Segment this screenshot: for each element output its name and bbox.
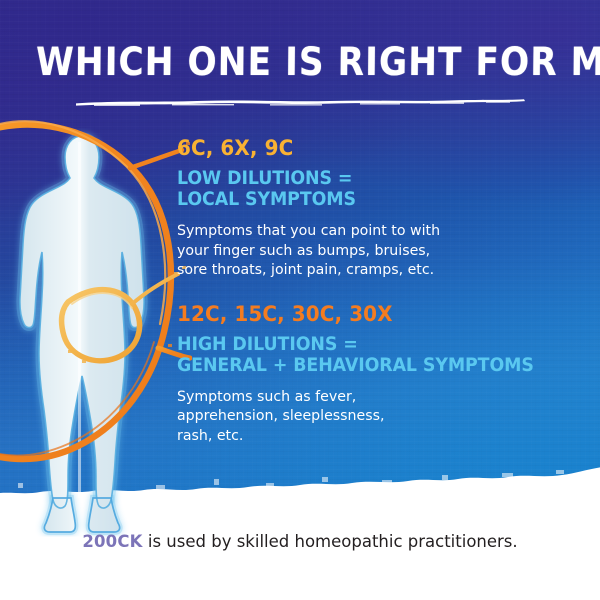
infographic-poster: WHICH ONE IS RIGHT FOR ME?	[0, 0, 600, 600]
body-copy-low-line-2: your finger such as bumps, bruises,	[177, 241, 557, 261]
title-area: WHICH ONE IS RIGHT FOR ME?	[0, 42, 600, 84]
dilution-block-high: 12C, 15C, 30C, 30X HIGH DILUTIONS = GENE…	[177, 302, 569, 446]
footer-dose-label: 200CK	[82, 532, 142, 552]
content-column: 6C, 6X, 9C LOW DILUTIONS = LOCAL SYMPTOM…	[177, 136, 569, 446]
footer-note: 200CK is used by skilled homeopathic pra…	[12, 531, 588, 553]
subhead-low-line-2: LOCAL SYMPTOMS	[177, 189, 545, 210]
page-title: WHICH ONE IS RIGHT FOR ME?	[36, 42, 564, 84]
footer-text: is used by skilled homeopathic practitio…	[143, 532, 518, 552]
subhead-high-line-1: HIGH DILUTIONS =	[177, 334, 545, 355]
dose-label-high: 12C, 15C, 30C, 30X	[177, 302, 549, 327]
body-copy-high-line-1: Symptoms such as fever,	[177, 387, 557, 407]
subhead-low-line-1: LOW DILUTIONS =	[177, 168, 545, 189]
body-copy-high-line-2: apprehension, sleeplessness,	[177, 406, 557, 426]
body-copy-high-line-3: rash, etc.	[177, 426, 557, 446]
subhead-low: LOW DILUTIONS = LOCAL SYMPTOMS	[177, 168, 545, 210]
body-copy-low-line-1: Symptoms that you can point to with	[177, 221, 557, 241]
subhead-high-line-2: GENERAL + BEHAVIORAL SYMPTOMS	[177, 355, 545, 376]
subhead-high: HIGH DILUTIONS = GENERAL + BEHAVIORAL SY…	[177, 334, 545, 376]
dose-label-low: 6C, 6X, 9C	[177, 136, 549, 161]
body-copy-low-line-3: sore throats, joint pain, cramps, etc.	[177, 260, 557, 280]
body-copy-high: Symptoms such as fever, apprehension, sl…	[177, 387, 557, 446]
dilution-block-low: 6C, 6X, 9C LOW DILUTIONS = LOCAL SYMPTOM…	[177, 136, 569, 280]
orange-brush-circles	[0, 106, 192, 516]
body-copy-low: Symptoms that you can point to with your…	[177, 221, 557, 280]
